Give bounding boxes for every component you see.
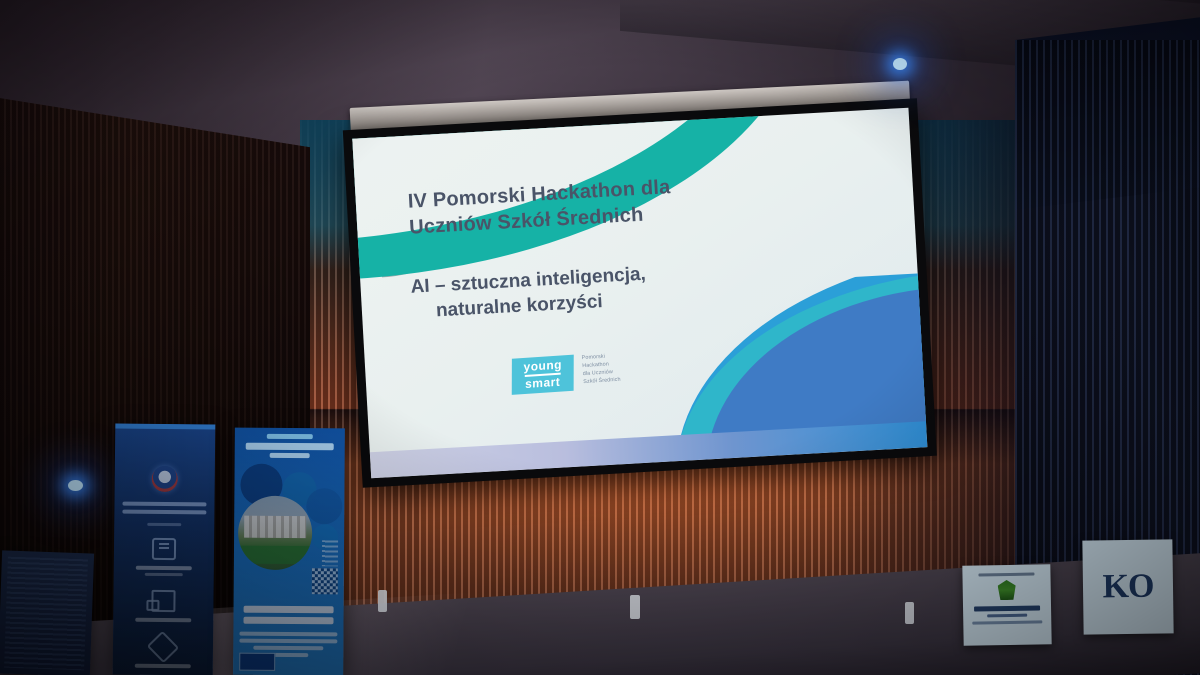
griffin-crest-icon [998, 580, 1016, 600]
sign-ko-text: KO [1102, 568, 1153, 607]
auditorium-photo: IV Pomorski Hackathon dla Uczniów Szkół … [0, 0, 1200, 675]
led-light-left-icon [68, 480, 83, 491]
logo-word-smart: smart [525, 373, 560, 391]
logo-mark: young smart [512, 355, 574, 395]
sign-role-line [987, 614, 1027, 618]
presentation-slide: IV Pomorski Hackathon dla Uczniów Szkół … [352, 108, 927, 479]
banner-light-overlay [113, 423, 216, 675]
wall-plate [378, 590, 387, 612]
slide-wave-decoration [646, 272, 927, 438]
logo-caption-line-4: Szkół Średnich [583, 377, 621, 385]
banner-light-overlay [233, 428, 345, 675]
sign-crest [962, 564, 1051, 646]
banner-navy-academy [113, 423, 216, 675]
logo-caption-line-1: Pomorski [582, 354, 620, 362]
wall-plate [905, 602, 914, 624]
young-smart-logo: young smart Pomorski Hackathon dla Uczni… [511, 352, 622, 395]
sign-ko-monogram: KO [1082, 539, 1173, 634]
projection-screen: IV Pomorski Hackathon dla Uczniów Szkół … [342, 80, 937, 494]
sign-top-text-line [978, 573, 1034, 577]
stage-speaker-box [0, 550, 94, 675]
sign-ko: KO [1082, 539, 1173, 634]
logo-caption-line-2: Hackathon [582, 362, 620, 370]
banner-blue-school [233, 428, 345, 675]
sign-detail-line [972, 620, 1042, 624]
logo-word-young: young [524, 359, 562, 374]
logo-caption: Pomorski Hackathon dla Uczniów Szkół Śre… [581, 352, 620, 386]
led-light-right-icon [893, 58, 907, 70]
speaker-grille [4, 557, 88, 671]
wall-plate [630, 595, 640, 619]
screen-frame: IV Pomorski Hackathon dla Uczniów Szkół … [343, 98, 937, 488]
sign-name-line [974, 605, 1040, 611]
